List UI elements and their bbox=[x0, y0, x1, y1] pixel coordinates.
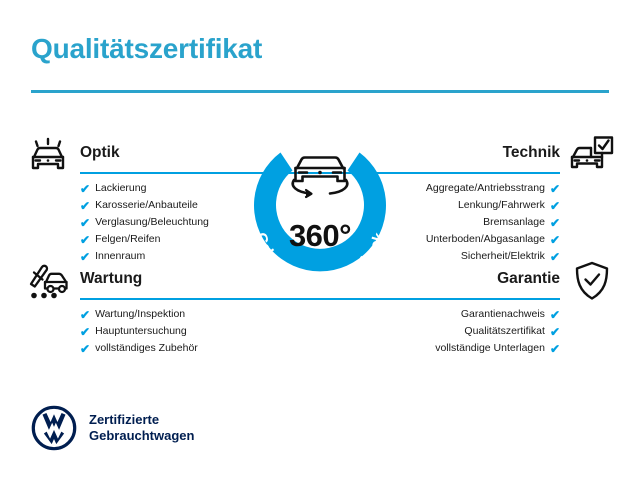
check-icon: ✔ bbox=[550, 183, 560, 195]
check-icon: ✔ bbox=[80, 309, 90, 321]
list-item: ✔Hauptuntersuchung bbox=[80, 323, 322, 340]
list-item-label: Hauptuntersuchung bbox=[95, 326, 187, 337]
check-icon: ✔ bbox=[550, 234, 560, 246]
wrench-car-icon bbox=[22, 258, 74, 304]
check-icon: ✔ bbox=[550, 326, 560, 338]
list-item-label: Garantienachweis bbox=[461, 309, 545, 320]
shield-check-icon bbox=[566, 258, 618, 304]
check-icon: ✔ bbox=[550, 309, 560, 321]
list-item-label: vollständiges Zubehör bbox=[95, 343, 198, 354]
section-title-optik: Optik bbox=[80, 144, 120, 162]
list-item-label: Qualitätszertifikat bbox=[464, 326, 545, 337]
vw-brand-line1: Zertifizierte bbox=[89, 412, 194, 428]
list-item-label: Bremsanlage bbox=[483, 217, 545, 228]
check-icon: ✔ bbox=[80, 200, 90, 212]
list-item: Garantienachweis✔ bbox=[461, 306, 560, 323]
page-title: Qualitätszertifikat bbox=[31, 33, 262, 65]
certificate-page: Qualitätszertifikat Optik bbox=[0, 0, 640, 480]
list-item: Bremsanlage✔ bbox=[483, 214, 560, 231]
vw-logo bbox=[31, 405, 77, 451]
list-item: vollständige Unterlagen✔ bbox=[435, 340, 560, 357]
list-item-label: Aggregate/Antriebsstrang bbox=[426, 183, 545, 194]
vw-brand-block: Zertifizierte Gebrauchtwagen bbox=[31, 405, 194, 451]
badge-ring: Gebrauchtwagen-Check bbox=[228, 120, 412, 304]
check-icon: ✔ bbox=[80, 217, 90, 229]
list-item: ✔vollständiges Zubehör bbox=[80, 340, 322, 357]
car-checkbox-icon bbox=[566, 132, 618, 178]
list-item-label: Unterboden/Abgasanlage bbox=[426, 234, 545, 245]
badge-360-gebrauchtwagen-check: Gebrauchtwagen-Check 360° bbox=[228, 120, 412, 304]
vw-brand-text: Zertifizierte Gebrauchtwagen bbox=[89, 412, 194, 445]
list-item-label: Verglasung/Beleuchtung bbox=[95, 217, 209, 228]
check-icon: ✔ bbox=[550, 217, 560, 229]
list-item-label: Felgen/Reifen bbox=[95, 234, 160, 245]
title-divider bbox=[31, 90, 609, 93]
car-rotate-icon bbox=[293, 158, 347, 198]
list-item-label: Wartung/Inspektion bbox=[95, 309, 185, 320]
checklist-garantie: Garantienachweis✔ Qualitätszertifikat✔ v… bbox=[318, 306, 560, 357]
list-item: Lenkung/Fahrwerk✔ bbox=[458, 197, 560, 214]
section-title-technik: Technik bbox=[503, 144, 560, 162]
list-item-label: Lackierung bbox=[95, 183, 146, 194]
check-icon: ✔ bbox=[80, 234, 90, 246]
section-title-wartung: Wartung bbox=[80, 270, 142, 288]
list-item-label: Lenkung/Fahrwerk bbox=[458, 200, 545, 211]
check-icon: ✔ bbox=[80, 343, 90, 355]
checklist-wartung: ✔Wartung/Inspektion ✔Hauptuntersuchung ✔… bbox=[80, 306, 322, 357]
badge-number: 360° bbox=[228, 218, 412, 254]
car-shine-icon bbox=[22, 132, 74, 178]
list-item-label: Karosserie/Anbauteile bbox=[95, 200, 198, 211]
check-icon: ✔ bbox=[550, 343, 560, 355]
section-title-garantie: Garantie bbox=[497, 270, 560, 288]
list-item: Qualitätszertifikat✔ bbox=[464, 323, 560, 340]
vw-brand-line2: Gebrauchtwagen bbox=[89, 428, 194, 444]
check-icon: ✔ bbox=[80, 326, 90, 338]
list-item: Aggregate/Antriebsstrang✔ bbox=[426, 180, 560, 197]
list-item-label: vollständige Unterlagen bbox=[435, 343, 545, 354]
check-icon: ✔ bbox=[550, 200, 560, 212]
list-item: ✔Wartung/Inspektion bbox=[80, 306, 322, 323]
check-icon: ✔ bbox=[80, 183, 90, 195]
list-item: Unterboden/Abgasanlage✔ bbox=[426, 231, 560, 248]
